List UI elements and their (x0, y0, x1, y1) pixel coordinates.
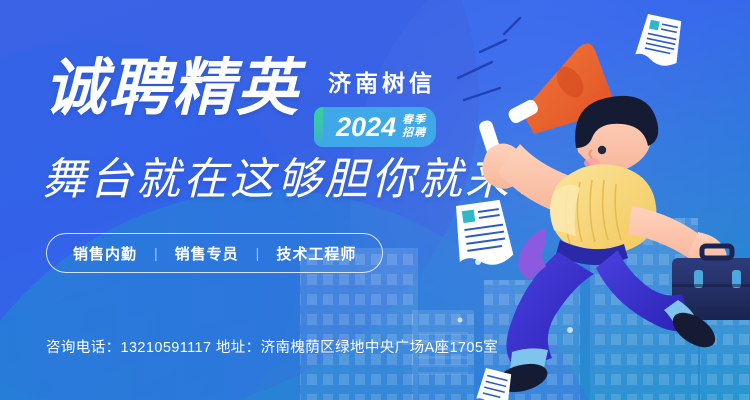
job-item-3[interactable]: 技术工程师 (276, 243, 356, 264)
season-line-1: 春季 (402, 114, 426, 127)
year-badge: 2024 春季 招聘 (314, 107, 436, 147)
job-item-2[interactable]: 销售专员 (175, 243, 239, 264)
headline-group: 诚聘精英 济南树信 2024 春季 招聘 (44, 58, 436, 147)
company-name: 济南树信 (328, 64, 436, 98)
job-positions-pill: 销售内勤 | 销售专员 | 技术工程师 (46, 233, 383, 273)
recruitment-banner: 诚聘精英 济南树信 2024 春季 招聘 舞台就在这够胆你就来！ 销售内勤 | … (0, 0, 750, 400)
job-separator-2: | (239, 245, 277, 261)
job-item-1[interactable]: 销售内勤 (73, 243, 137, 264)
season-line-2: 招聘 (402, 127, 426, 140)
city-skyline (0, 170, 750, 400)
brand-group: 济南树信 2024 春季 招聘 (314, 58, 436, 147)
sub-headline: 舞台就在这够胆你就来！ (42, 158, 559, 202)
headline-main: 诚聘精英 (44, 58, 300, 120)
season-label: 春季 招聘 (402, 114, 426, 140)
year-number: 2024 (336, 114, 396, 141)
contact-info: 咨询电话：13210591117 地址：济南槐荫区绿地中央广场A座1705室 (46, 336, 498, 357)
job-separator-1: | (137, 245, 175, 261)
